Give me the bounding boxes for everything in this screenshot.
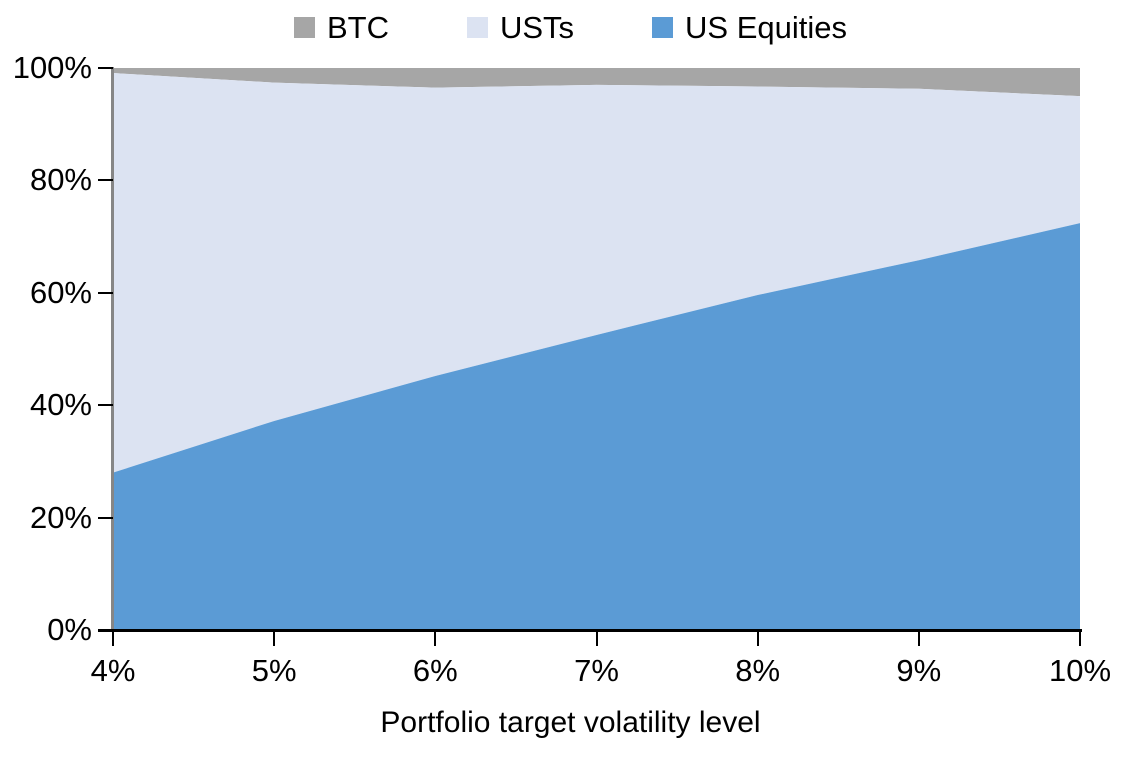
legend-label-us-equities: US Equities [685,12,847,43]
legend-item-btc[interactable]: BTC [294,12,389,43]
y-axis-line [111,67,114,632]
y-axis-tick [98,629,113,631]
y-axis-tick [98,292,113,294]
area-series-svg [113,68,1080,630]
y-axis-tick [98,67,113,69]
legend-swatch-usts [467,17,488,38]
x-axis-label: 8% [698,654,818,688]
chart-legend: BTC USTs US Equities [0,6,1141,48]
x-axis-tick [273,632,275,646]
y-axis-tick [98,517,113,519]
y-axis-tick [98,179,113,181]
y-axis-label: 0% [0,614,92,645]
legend-label-btc: BTC [327,12,389,43]
y-axis-label: 80% [0,164,92,195]
x-axis-label: 9% [859,654,979,688]
y-axis-label: 60% [0,277,92,308]
stacked-area-chart: BTC USTs US Equities 0%20%40%60%80%100% … [0,0,1141,763]
legend-swatch-btc [294,17,315,38]
x-axis-tick [434,632,436,646]
x-axis-tick [918,632,920,646]
y-axis-tick [98,404,113,406]
x-axis-tick [757,632,759,646]
legend-item-usts[interactable]: USTs [467,12,574,43]
legend-item-us-equities[interactable]: US Equities [652,12,847,43]
legend-swatch-us-equities [652,17,673,38]
x-axis-label: 7% [537,654,657,688]
x-axis-title: Portfolio target volatility level [0,706,1141,740]
x-axis-label: 6% [375,654,495,688]
x-axis-tick [596,632,598,646]
y-axis-label: 20% [0,502,92,533]
x-axis-line [98,629,1082,632]
y-axis-label: 100% [0,52,92,83]
y-axis-label: 40% [0,389,92,420]
plot-area [113,68,1080,630]
x-axis-tick [1079,632,1081,646]
x-axis-label: 4% [53,654,173,688]
x-axis-label: 5% [214,654,334,688]
x-axis-label: 10% [1020,654,1140,688]
legend-label-usts: USTs [500,12,574,43]
x-axis-tick [112,632,114,646]
